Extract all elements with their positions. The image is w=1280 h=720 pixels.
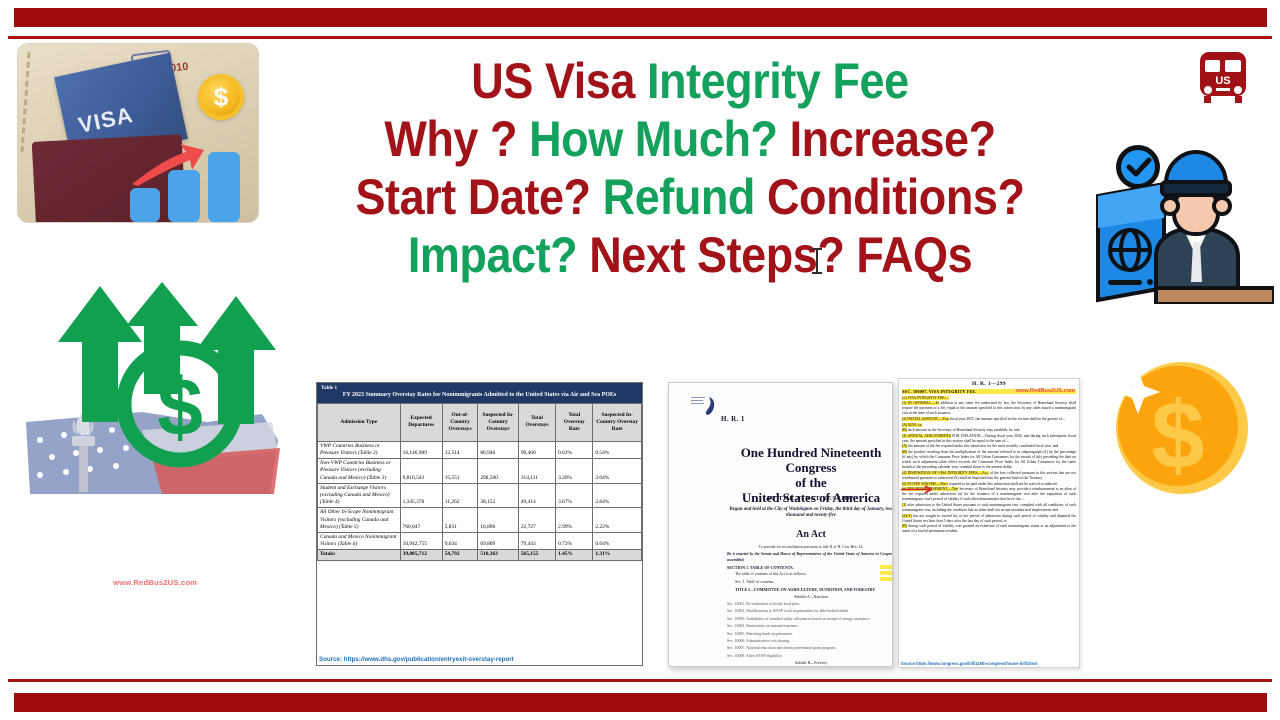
hr1-highlight-tabs — [880, 565, 892, 583]
cell-suspected-in-country: 69,809 — [478, 533, 519, 550]
hr1-begun-text: Begun and held at the City of Washington… — [725, 507, 893, 520]
fee-paragraph-text-9: required to be paid under this subsectio… — [948, 482, 1058, 486]
bar-3 — [208, 152, 240, 222]
hr1-enacting-clause: Be it enacted by the Senate and House of… — [727, 552, 893, 562]
cell-out-of-country: 5,831 — [442, 508, 478, 533]
cell-totals-label: Totals: — [318, 550, 401, 560]
cell-admission-type: VWP Countries Business or Pleasure Visit… — [318, 441, 401, 458]
cell-total-overstays: 314,111 — [518, 459, 555, 484]
fee-paragraph-text-4: such amount as the Secretary of Homeland… — [907, 428, 1021, 432]
fee-paragraph-5: (3) ANNUAL ADJUSTMENTS FOR INFLATION.—Du… — [902, 434, 1076, 444]
hr1-subtitle-b: Subtitle B—Forestry — [727, 661, 893, 666]
cell-total-overstays: 22,727 — [518, 508, 555, 533]
table-header-cell-5: Total Overstay Rate — [556, 403, 593, 441]
cell-total-rate: 3.20% — [556, 459, 593, 484]
fee-paragraph-6: (A) the amount of the fee required under… — [902, 444, 1076, 449]
cell-suspected-rate: 2.22% — [593, 508, 642, 533]
coin-dollar-symbol: $ — [1151, 382, 1204, 489]
cell-out-of-country: 11,262 — [442, 483, 478, 508]
headline-line-4: Impact? Next Steps? FAQs — [330, 226, 1050, 284]
fee-paragraph-12: (2)(A) has not sought to extend his or h… — [902, 514, 1076, 524]
top-red-bar — [14, 8, 1267, 27]
hr1-congress-line1: One Hundred Nineteenth Congress — [721, 445, 893, 475]
table-row: Student and Exchange Visitors (excluding… — [318, 483, 642, 508]
table-title: FY 2023 Summary Overstay Rates for Nonim… — [321, 392, 638, 399]
fee-paragraph-text-13: during such period of validity, was gran… — [902, 524, 1076, 533]
cell-expected-departures: 1,345,378 — [400, 483, 442, 508]
fee-paragraph-label-0: (a) VISA INTEGRITY FEE.— — [902, 396, 949, 400]
hr1-subtitle-a: Subtitle A—Nutrition — [727, 595, 893, 600]
cell-suspected-rate: 0.64% — [593, 533, 642, 550]
table-header-row: Admission TypeExpected DeparturesOut-of-… — [318, 403, 642, 441]
cell-suspected-rate: 3.04% — [593, 459, 642, 484]
cell-admission-type: All Other In-Scope Nonimmigrant Visitors… — [318, 508, 401, 533]
cell-total-rate: 2.99% — [556, 508, 593, 533]
headline-segment-4-1: Impact? — [408, 227, 589, 283]
cell-total-suspected-rate: 1.31% — [593, 550, 642, 560]
fee-paragraph-0: (a) VISA INTEGRITY FEE.— — [902, 396, 1076, 401]
officer-figure — [1156, 152, 1274, 304]
cell-total-suspected-in-country: 510,363 — [478, 550, 519, 560]
cell-admission-type: Student and Exchange Visitors (excluding… — [318, 483, 401, 508]
cell-total-total-overstays: 565,155 — [518, 550, 555, 560]
cell-out-of-country: 9,634 — [442, 533, 478, 550]
bar-2 — [168, 170, 200, 222]
visa-integrity-fee-document: H. R. 1—299 www.RedBus2US.com SEC. 10000… — [898, 378, 1080, 668]
cell-suspected-in-country: 298,560 — [478, 459, 519, 484]
cell-expected-departures: 9,810,543 — [400, 459, 442, 484]
fee-paragraph-label-5: (3) ANNUAL ADJUSTMENTS — [902, 434, 951, 438]
cell-admission-type: Canada and Mexico Nonimmigrant Visitors … — [318, 533, 401, 550]
hr1-toc-intro: The table of contents of this Act is as … — [727, 572, 893, 577]
dollar-coin-icon: $ — [198, 74, 244, 120]
table-watermark: www.RedBus2US.com — [113, 578, 197, 587]
cell-expected-departures: 760,047 — [400, 508, 442, 533]
overstay-table: Admission TypeExpected DeparturesOut-of-… — [317, 403, 642, 561]
headline-segment-4-2: Next Steps? FAQs — [589, 227, 972, 283]
cell-expected-departures: 10,942,755 — [400, 533, 442, 550]
cell-total-expected-departures: 39,005,712 — [400, 550, 442, 560]
hr1-session: AT THE FIRST SESSION — [721, 495, 893, 502]
verified-check-badge-icon — [1116, 145, 1160, 189]
fee-paragraph-text-2: fiscal year 2025, the amount specified i… — [949, 417, 1066, 421]
cell-out-of-country: 15,551 — [442, 459, 478, 484]
cell-suspected-in-country: 86,946 — [478, 441, 519, 458]
cell-admission-type: Non-VWP Countries Business or Pleasure V… — [318, 459, 401, 484]
headline-segment-2-1: Why ? — [384, 111, 529, 167]
hr1-title-i: TITLE I—COMMITTEE ON AGRICULTURE, NUTRIT… — [727, 587, 893, 592]
fee-paragraph-3: (A) $250; or — [902, 423, 1076, 428]
fee-paragraph-label-12: (2)(A) — [902, 514, 912, 518]
fee-paragraph-1: (1) IN GENERAL.—In addition to any other… — [902, 401, 1076, 416]
fee-paragraph-label-1: (1) IN GENERAL.—In — [902, 401, 939, 405]
visa-photo: 2010 NOV 3 0 JUL VISA $ — [18, 44, 258, 222]
overstay-table-card: Table 1 FY 2023 Summary Overstay Rates f… — [316, 382, 643, 666]
hr1-body-text: To provide for reconciliation pursuant t… — [727, 545, 893, 667]
hr1-toc-item-0: Sec. 10001. Re-evaluation of thrifty foo… — [727, 602, 893, 607]
hr1-toc-item-5: Sec. 10006. Administrative cost sharing. — [727, 639, 893, 644]
fee-paragraph-text-11: after admission to the United States pur… — [902, 503, 1076, 512]
cell-suspected-in-country: 38,152 — [478, 483, 519, 508]
fee-paragraph-2: (2) INITIAL AMOUNT.—For fiscal year 2025… — [902, 417, 1076, 422]
fee-paragraph-8: (4) DISPOSITION OF VISA INTEGRITY FEES.—… — [902, 471, 1076, 481]
headline-segment-3-1: Start Date? — [355, 169, 602, 225]
hr1-toc-item-7: Sec. 10008. Alien SNAP eligibility. — [727, 654, 893, 659]
fee-source-link[interactable]: Source:https://www.congress.gov/bill/119… — [901, 661, 1080, 666]
text-cursor-icon — [816, 248, 818, 274]
hr1-toc-item-6: Sec. 10007. National education and obesi… — [727, 646, 893, 651]
table-header-cell-1: Expected Departures — [400, 403, 442, 441]
gold-dollar-coin-graphic: $ — [1108, 352, 1258, 498]
cell-total-rate: 0.73% — [556, 533, 593, 550]
cell-total-overstays: 99,460 — [518, 441, 555, 458]
headline-title: US Visa Integrity FeeWhy ? How Much? Inc… — [330, 52, 1050, 284]
red-pointer-arrow-icon — [901, 485, 937, 494]
fee-body: SEC. 100007. VISA INTEGRITY FEE. (a) VIS… — [899, 389, 1079, 534]
visa-sticker-label: VISA — [76, 102, 136, 139]
fee-paragraph-text-7: the product resulting from the multiplic… — [902, 450, 1076, 469]
hr1-toc-item-3: Sec. 10004. Restrictions on internal exp… — [727, 624, 893, 629]
cell-out-of-country: 12,514 — [442, 441, 478, 458]
bar-1 — [130, 188, 160, 222]
table-header-cell-6: Suspected In-Country Overstay Rate — [593, 403, 642, 441]
hr1-purpose: To provide for reconciliation pursuant t… — [727, 545, 893, 550]
fee-watermark: www.RedBus2US.com — [1016, 388, 1075, 394]
hr1-an-act-heading: An Act — [721, 529, 893, 540]
cell-total-rate: 3.67% — [556, 483, 593, 508]
headline-line-2: Why ? How Much? Increase? — [330, 110, 1050, 168]
table-source-link[interactable]: Source: https://www.dhs.gov/publication/… — [319, 656, 514, 663]
table-body: VWP Countries Business or Pleasure Visit… — [318, 441, 642, 560]
cell-suspected-rate: 2.84% — [593, 483, 642, 508]
redbus2us-logo-icon: US — [1192, 46, 1254, 108]
table-header-cell-2: Out-of-Country Overstays — [442, 403, 478, 441]
growth-bar-chart-icon — [130, 148, 246, 222]
headline-line-3: Start Date? Refund Conditions? — [330, 168, 1050, 226]
fee-paragraph-13: (B) during such period of validity, was … — [902, 524, 1076, 534]
table-row: All Other In-Scope Nonimmigrant Visitors… — [318, 508, 642, 533]
immigration-officer-graphic — [1096, 132, 1274, 304]
cell-total-out-of-country: 54,792 — [442, 550, 478, 560]
headline-segment-1-2: Integrity Fee — [647, 53, 909, 109]
cell-total-rate: 0.62% — [556, 441, 593, 458]
headline-segment-3-3: Conditions? — [767, 169, 1024, 225]
cell-suspected-rate: 0.54% — [593, 441, 642, 458]
headline-line-1: US Visa Integrity Fee — [330, 52, 1050, 110]
cell-expected-departures: 16,146,989 — [400, 441, 442, 458]
table-header-cell-3: Suspected In-Country Overstays — [478, 403, 519, 441]
table-header-cell-4: Total Overstays — [518, 403, 555, 441]
fee-paragraph-text-6: the amount of the fee required under thi… — [907, 444, 1058, 448]
hr1-bill-label: H. R. 1 — [721, 415, 745, 423]
table-row: Canada and Mexico Nonimmigrant Visitors … — [318, 533, 642, 550]
fee-paragraph-4: (B) such amount as the Secretary of Home… — [902, 428, 1076, 433]
fee-paragraph-7: (B) the product resulting from the multi… — [902, 450, 1076, 470]
hr1-section1-heading: SECTION 1. TABLE OF CONTENTS. — [727, 565, 893, 570]
bus-label: US — [1215, 75, 1230, 87]
cell-suspected-in-country: 16,896 — [478, 508, 519, 533]
hr1-toc-item-2: Sec. 10003. Availability of standard uti… — [727, 617, 893, 622]
table-row: Non-VWP Countries Business or Pleasure V… — [318, 459, 642, 484]
cell-total-total-rate: 1.45% — [556, 550, 593, 560]
fee-paragraph-label-3: (A) $250; or — [902, 423, 922, 427]
fee-page-number: H. R. 1—299 — [899, 381, 1079, 387]
fee-paragraph-list: (a) VISA INTEGRITY FEE.—(1) IN GENERAL.—… — [902, 396, 1076, 535]
cell-total-overstays: 79,443 — [518, 533, 555, 550]
svg-text:$: $ — [157, 362, 203, 453]
thumbnail-canvas: US Visa Integrity FeeWhy ? How Much? Inc… — [0, 0, 1280, 720]
congress-seal-icon — [691, 395, 721, 417]
fee-paragraph-label-8: (4) DISPOSITION OF VISA INTEGRITY FEES.—… — [902, 471, 989, 475]
fee-paragraph-text-12: has not sought to extend his or her peri… — [902, 514, 1076, 523]
hr1-toc-item-4: Sec. 10005. Matching funds requirements. — [727, 632, 893, 637]
headline-segment-2-2: How Much? — [529, 111, 789, 167]
fee-paragraph-label-2: (2) INITIAL AMOUNT.—For — [902, 417, 949, 421]
hr1-cover-document: H. R. 1 One Hundred Nineteenth Congress … — [668, 382, 893, 667]
fee-paragraph-11: (1) after admission to the United States… — [902, 503, 1076, 513]
table-totals-row: Totals:39,005,71254,792510,363565,1551.4… — [318, 550, 642, 560]
table-row: VWP Countries Business or Pleasure Visit… — [318, 441, 642, 458]
headline-segment-2-3: Increase? — [790, 111, 996, 167]
table-number: Table 1 — [321, 385, 638, 392]
cell-total-overstays: 49,414 — [518, 483, 555, 508]
hr1-congress-line2: of the — [721, 475, 893, 490]
table-title-bar: Table 1 FY 2023 Summary Overstay Rates f… — [317, 383, 642, 403]
hr1-toc-item-1: Sec. 10002. Modifications to SNAP work r… — [727, 609, 893, 614]
liberty-growth-graphic: $ — [22, 272, 284, 497]
headline-segment-1-1: US Visa — [471, 53, 647, 109]
hr1-toc-sec1: Sec. 1. Table of contents. — [727, 580, 893, 585]
hr1-toc-list: Sec. 10001. Re-evaluation of thrifty foo… — [727, 602, 893, 659]
top-red-line — [8, 36, 1272, 39]
bottom-red-bar — [14, 693, 1267, 712]
bottom-red-line — [8, 679, 1272, 682]
headline-segment-3-2: Refund — [603, 169, 767, 225]
table-header-cell-0: Admission Type — [318, 403, 401, 441]
